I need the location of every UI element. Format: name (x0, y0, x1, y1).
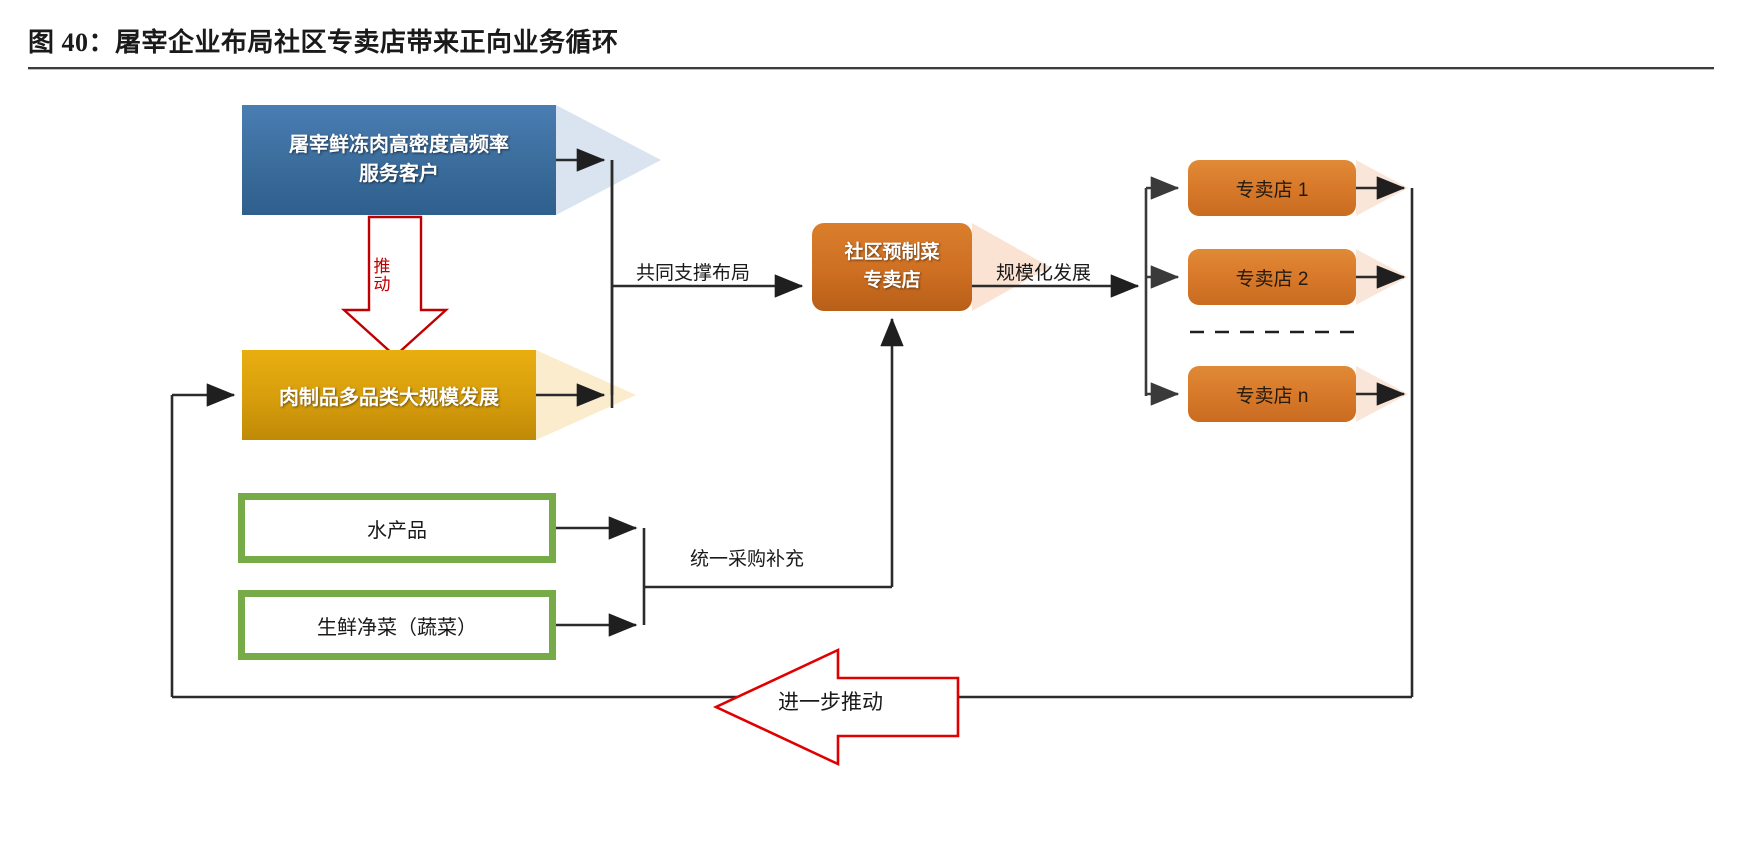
node-store-n[interactable]: 专卖店 n (1188, 366, 1356, 422)
node-green-vegetable-label: 生鲜净菜（蔬菜） (317, 611, 477, 640)
edge-store-riser (1146, 188, 1178, 396)
push-char-1: 推 (370, 258, 394, 276)
node-blue-source-text: 屠宰鲜冻肉高密度高频率 服务客户 (289, 131, 509, 189)
edge-label-push: 推 动 (370, 258, 394, 294)
node-store-n-label: 专卖店 n (1236, 381, 1309, 408)
node-gold-meat[interactable]: 肉制品多品类大规模发展 (242, 350, 536, 440)
node-green-aquatic-label: 水产品 (367, 514, 427, 543)
node-store-2[interactable]: 专卖店 2 (1188, 249, 1356, 305)
node-store-2-label: 专卖店 2 (1236, 264, 1309, 291)
edge-label-unified-procurement: 统一采购补充 (690, 544, 804, 571)
edge-label-further-push: 进一步推动 (778, 686, 883, 716)
edge-push-arrow (344, 217, 446, 356)
push-char-2: 动 (370, 276, 394, 294)
edge-label-joint-support: 共同支撑布局 (636, 258, 750, 285)
node-blue-source[interactable]: 屠宰鲜冻肉高密度高频率 服务客户 (242, 105, 556, 215)
blue-line-1: 屠宰鲜冻肉高密度高频率 (289, 131, 509, 160)
edge-blue-to-hub (556, 160, 612, 395)
node-store-1-label: 专卖店 1 (1236, 175, 1309, 202)
page-title: 图 40：屠宰企业布局社区专卖店带来正向业务循环 (28, 22, 619, 59)
node-green-aquatic[interactable]: 水产品 (238, 493, 556, 563)
header-divider (28, 67, 1714, 70)
node-green-vegetable[interactable]: 生鲜净菜（蔬菜） (238, 590, 556, 660)
node-orange-hub-text: 社区预制菜 专卖店 (844, 239, 939, 294)
edge-label-scaled-growth: 规模化发展 (996, 258, 1091, 285)
figure-page: 图 40：屠宰企业布局社区专卖店带来正向业务循环 (0, 0, 1742, 862)
edge-store-outputs (1356, 188, 1412, 697)
node-gold-meat-label: 肉制品多品类大规模发展 (279, 381, 499, 410)
blue-line-2: 服务客户 (289, 160, 509, 189)
node-orange-hub[interactable]: 社区预制菜 专卖店 (812, 223, 972, 311)
figure-header: 图 40：屠宰企业布局社区专卖店带来正向业务循环 (28, 22, 1714, 72)
node-store-1[interactable]: 专卖店 1 (1188, 160, 1356, 216)
hub-line-2: 专卖店 (844, 267, 939, 295)
hub-line-1: 社区预制菜 (844, 239, 939, 267)
diagram-canvas: 屠宰鲜冻肉高密度高频率 服务客户 肉制品多品类大规模发展 水产品 生鲜净菜（蔬菜… (0, 78, 1742, 862)
edge-supply-to-hub (556, 319, 892, 625)
